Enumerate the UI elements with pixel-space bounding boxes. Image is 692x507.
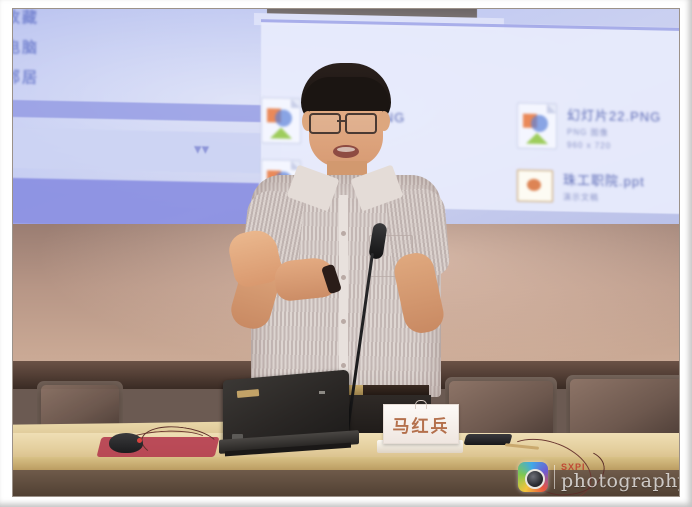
- watermark-divider: [554, 465, 555, 489]
- photo-frame: 收藏 电脑 邻居 ▾▾ 幻灯片21.PNG PNG 图像: [0, 0, 692, 507]
- watermark-text: photography: [561, 472, 680, 491]
- teeth: [337, 147, 355, 152]
- nameplate-card: 马红兵: [383, 404, 459, 444]
- powerpoint-file-icon: [517, 169, 553, 202]
- watermark-brand: SXPI: [561, 463, 680, 472]
- file-name: 珠工职院.ppt: [563, 169, 645, 190]
- list-item: 幻灯片22.PNG PNG 图像 960 x 720: [517, 103, 661, 152]
- speaker-person: [227, 63, 451, 393]
- chair: [37, 381, 123, 429]
- file-name: 幻灯片22.PNG: [567, 104, 661, 125]
- file-dimensions: 960 x 720: [567, 140, 661, 151]
- computer-mouse: [109, 433, 143, 453]
- shirt-placket: [339, 195, 348, 391]
- hair-front: [303, 77, 389, 111]
- ear-right: [378, 111, 390, 131]
- chair: [566, 375, 680, 437]
- shirt-button: [341, 275, 346, 280]
- laptop-label: [319, 391, 325, 394]
- mouse-led-icon: [137, 438, 142, 443]
- sidebar-item-favorites: 收藏: [12, 8, 39, 28]
- nameplate-name: 马红兵: [393, 412, 450, 437]
- shirt-button: [341, 231, 346, 236]
- eyeglasses-right-lens: [345, 113, 377, 134]
- file-meta: PNG 图像: [567, 126, 661, 139]
- list-item: 珠工职院.ppt 演示文稿: [517, 169, 645, 205]
- eyeglasses-left-lens: [309, 113, 341, 134]
- chevron-double-down-icon: ▾▾: [194, 142, 209, 157]
- nameplate: 马红兵: [377, 400, 463, 458]
- image-file-icon: [517, 103, 557, 150]
- eyeglasses-bridge: [337, 120, 345, 122]
- shirt-button: [341, 363, 346, 368]
- sidebar-band-lower: [12, 178, 259, 229]
- sidebar-item-network: 邻居: [12, 66, 39, 88]
- laptop: [223, 375, 349, 455]
- camera-lens-logo-icon: [518, 462, 548, 492]
- nameplate-clip: [415, 400, 427, 409]
- photograph: 收藏 电脑 邻居 ▾▾ 幻灯片21.PNG PNG 图像: [12, 8, 680, 497]
- shirt-button: [341, 319, 346, 324]
- file-meta: 演示文稿: [563, 191, 645, 204]
- watermark: SXPI photography: [518, 457, 680, 497]
- sidebar-item-computer: 电脑: [12, 36, 39, 58]
